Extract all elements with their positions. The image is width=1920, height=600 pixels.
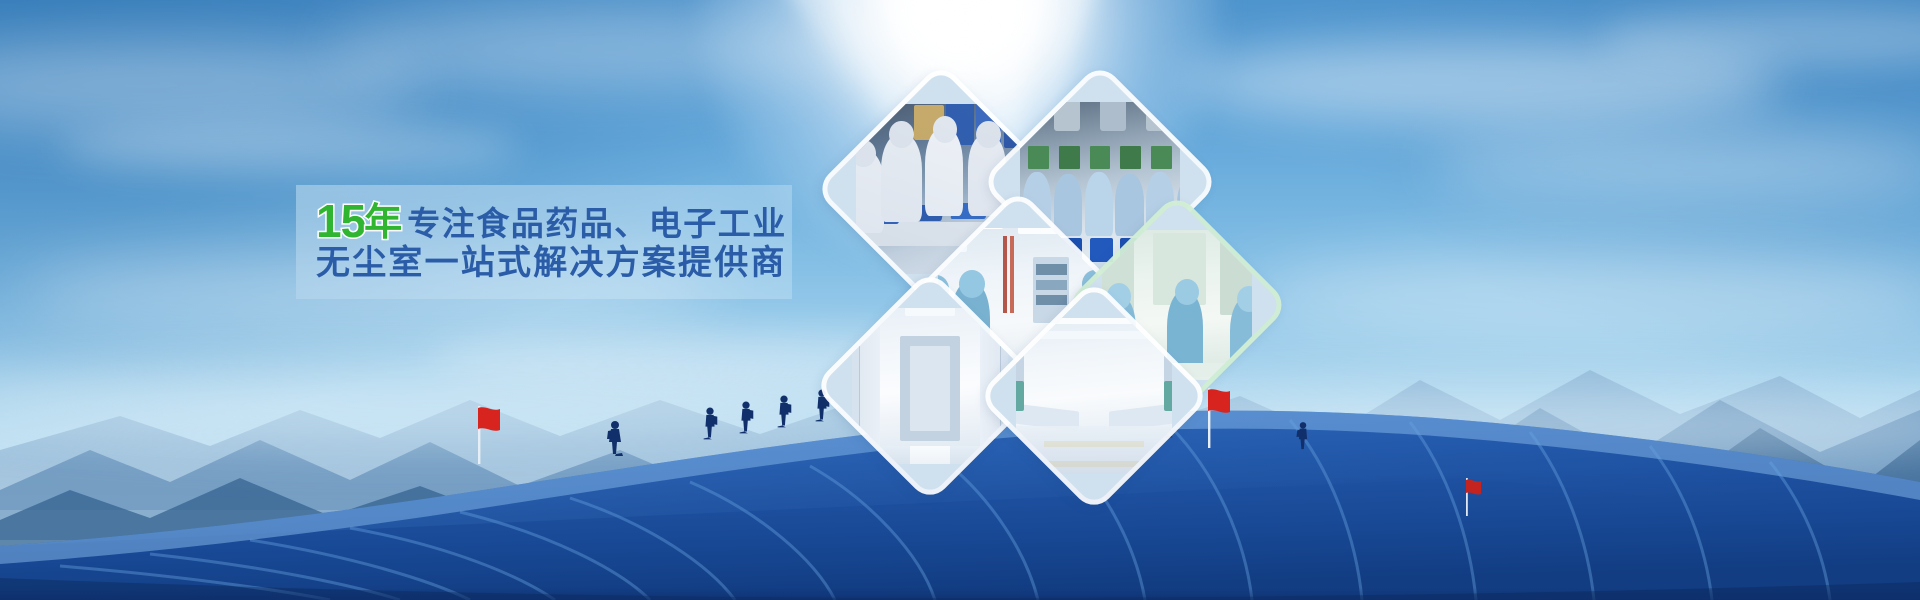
headline-block: 15 年 专注食品药品、电子工业 无尘室一站式解决方案提供商 (316, 196, 786, 292)
photo-collage (830, 80, 1290, 480)
headline-line-2: 无尘室一站式解决方案提供商 (316, 246, 786, 292)
scene-assembly-hall (1016, 318, 1172, 474)
headline-line-1-text: 专注食品药品、电子工业 (407, 207, 787, 240)
headline-line-2-text: 无尘室一站式解决方案提供商 (316, 246, 787, 280)
photo-bottom-right-image (1016, 318, 1172, 474)
photo-bottom-left-image (852, 308, 1008, 464)
years-number: 15 (316, 198, 365, 244)
years-unit: 年 (364, 204, 402, 242)
scene-clean-corridor (852, 308, 1008, 464)
hero-banner: 15 年 专注食品药品、电子工业 无尘室一站式解决方案提供商 (0, 0, 1920, 600)
bottom-shadow-trim (0, 588, 1920, 600)
headline-line-1: 15 年 专注食品药品、电子工业 (316, 196, 786, 244)
